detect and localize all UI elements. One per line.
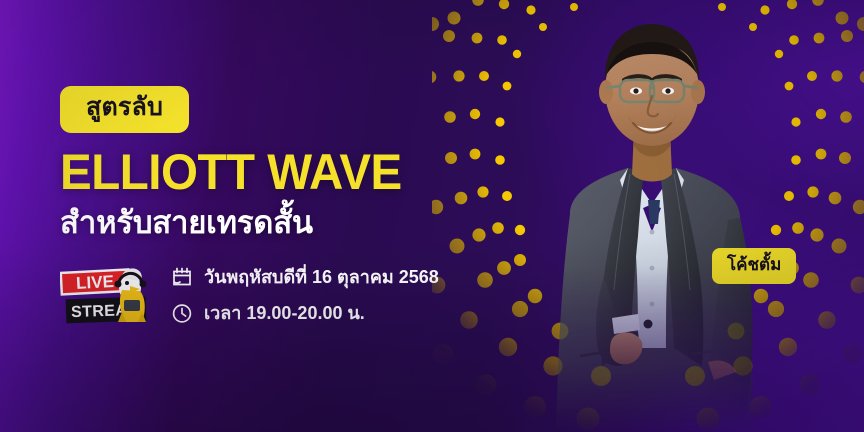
clock-icon [170, 301, 194, 325]
schedule-date-row: วันพฤหัสบดีที่ 16 ตุลาคม 2568 [170, 265, 439, 289]
live-badge-line1: LIVE [76, 272, 115, 293]
schedule-text-lines: วันพฤหัสบดีที่ 16 ตุลาคม 2568 เวลา 19.00… [170, 262, 439, 325]
presenter-name-tag: โค้ชตั้ม [712, 248, 796, 284]
promo-banner: สูตรลับ ELLIOTT WAVE สำหรับสายเทรดสั้น L… [0, 0, 864, 432]
schedule-date-text: วันพฤหัสบดีที่ 16 ตุลาคม 2568 [204, 268, 439, 286]
schedule-block: LIVE STREAM [60, 262, 460, 328]
schedule-time-row: เวลา 19.00-20.00 น. [170, 301, 439, 325]
calendar-icon [170, 265, 194, 289]
page-title: ELLIOTT WAVE [60, 147, 440, 197]
page-subtitle: สำหรับสายเทรดสั้น [60, 206, 460, 240]
live-stream-badge: LIVE STREAM [60, 266, 152, 328]
schedule-time-text: เวลา 19.00-20.00 น. [204, 304, 365, 322]
presenter-photo [452, 18, 852, 432]
eyebrow-badge: สูตรลับ [60, 86, 189, 133]
headline-block: สูตรลับ ELLIOTT WAVE สำหรับสายเทรดสั้น L… [60, 86, 460, 328]
